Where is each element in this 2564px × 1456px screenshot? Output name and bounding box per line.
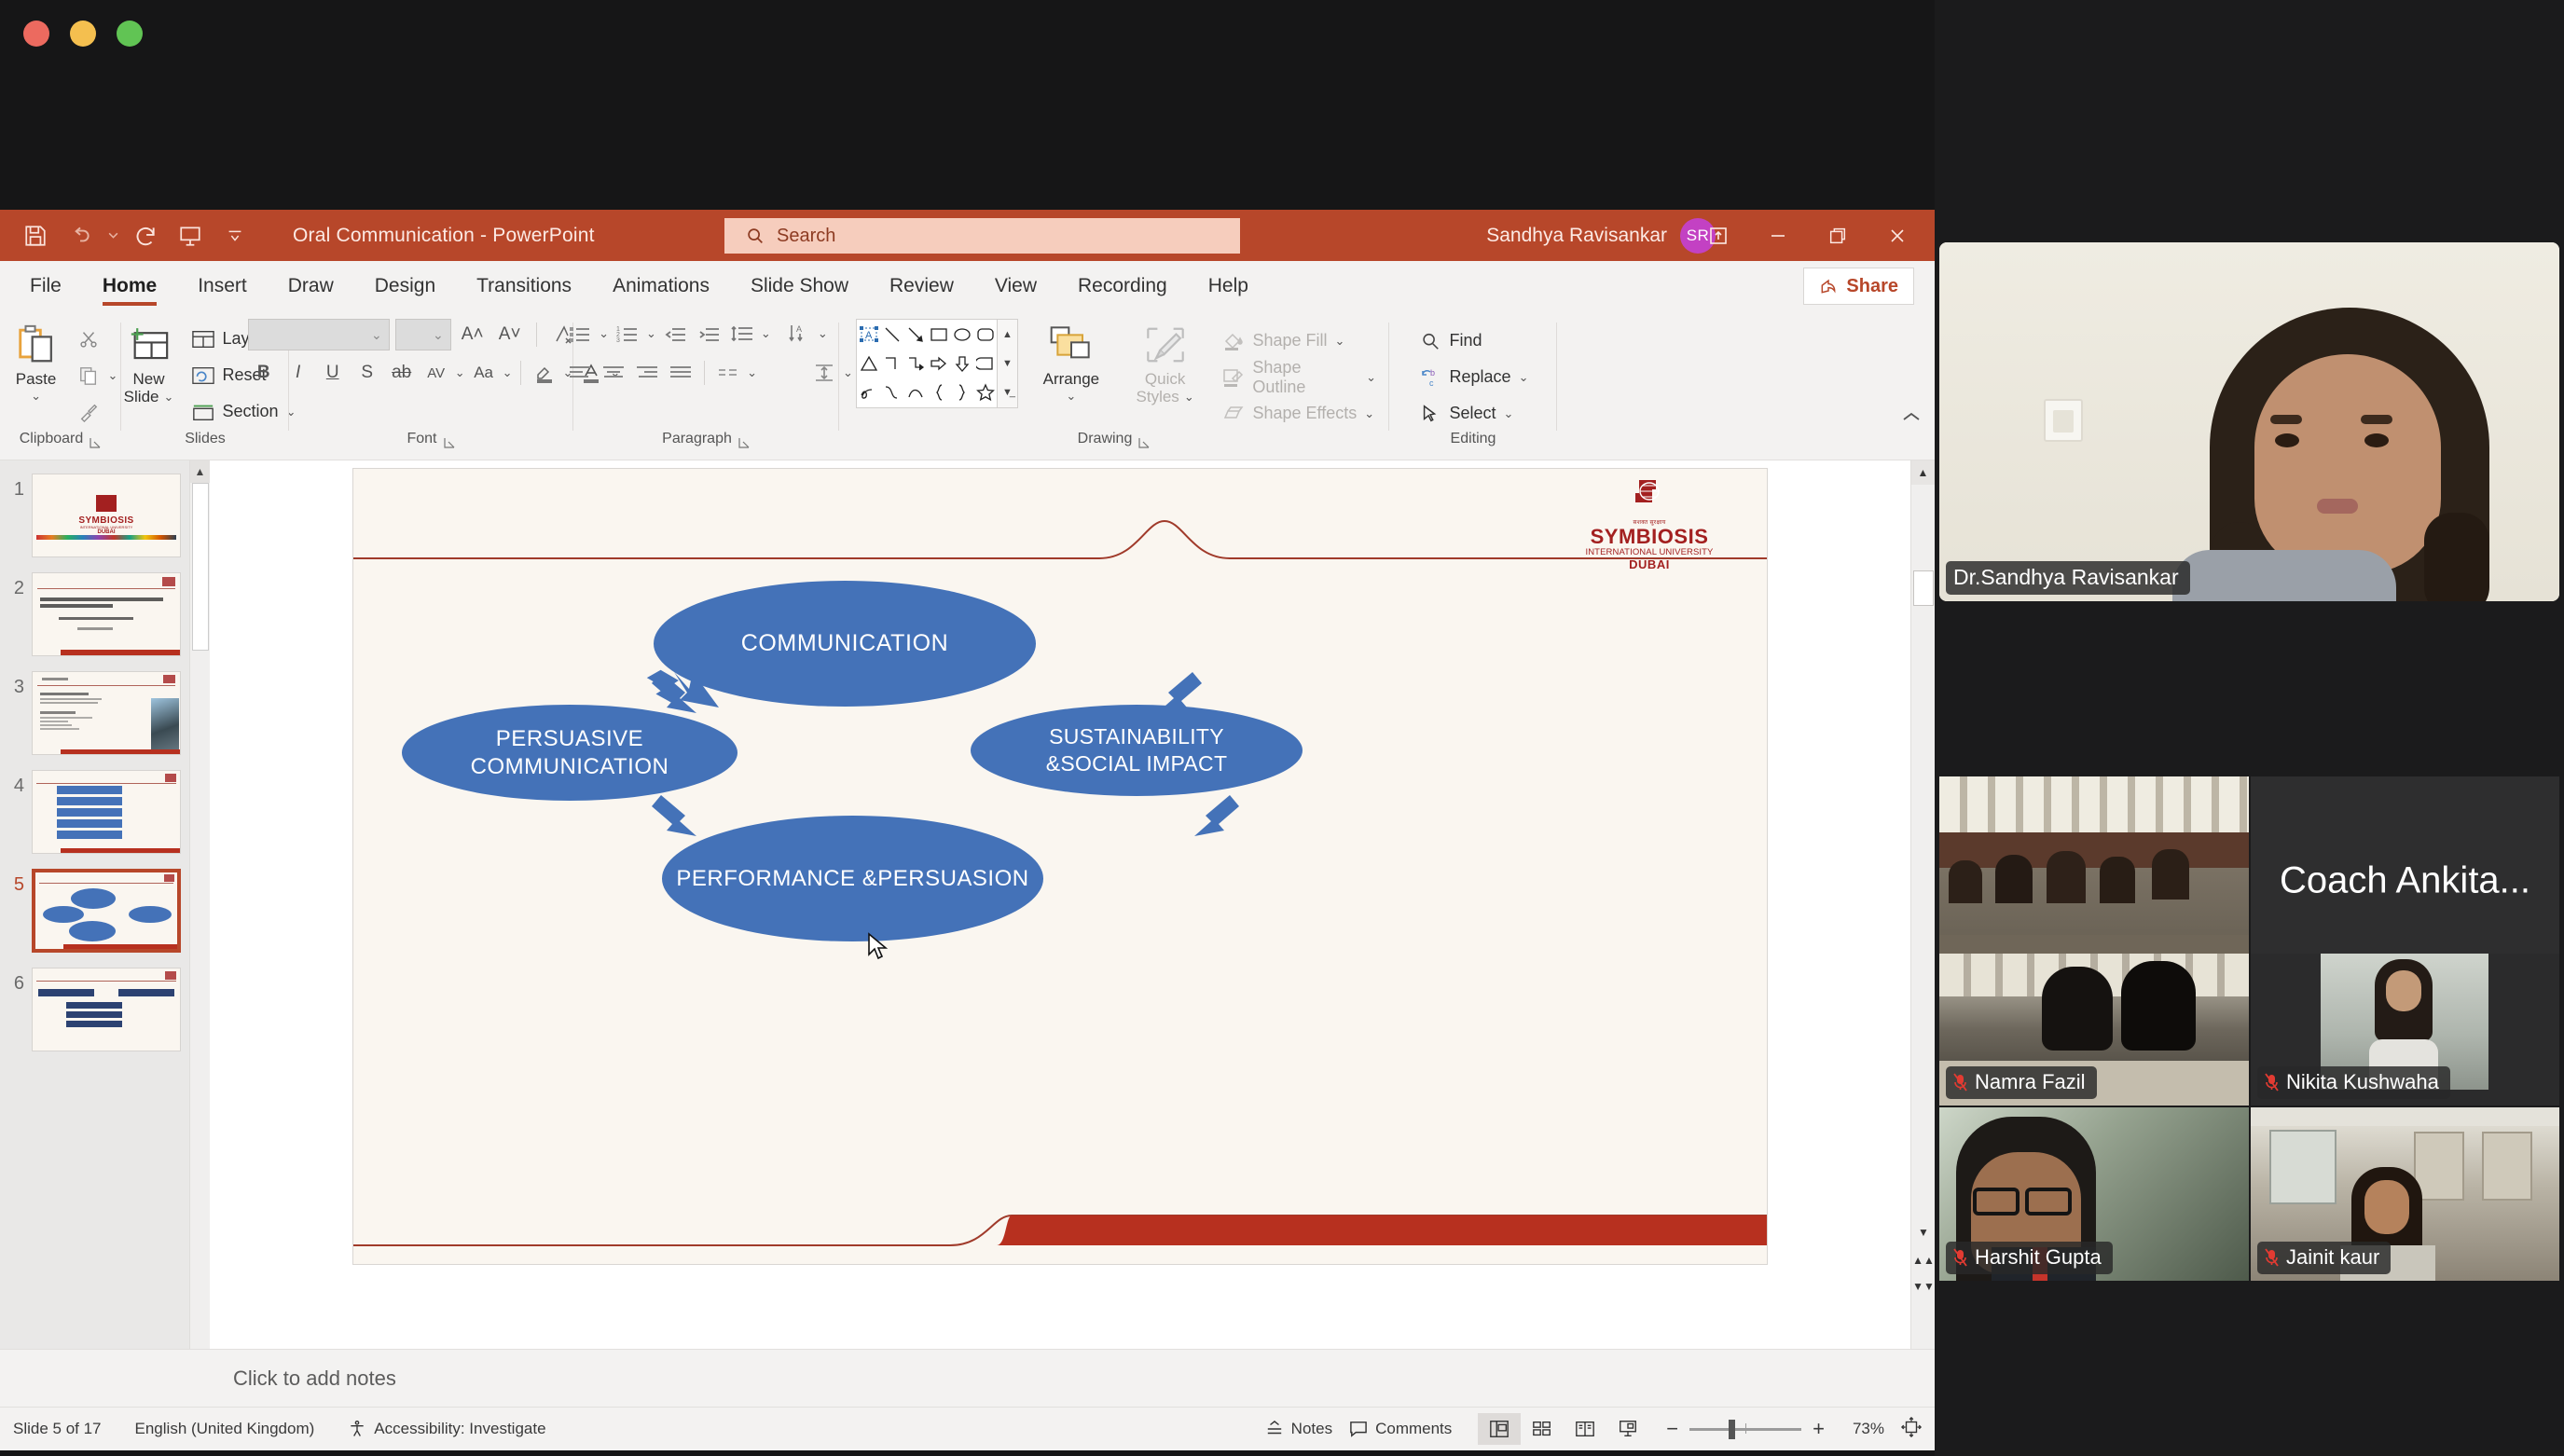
thumbnail-number: 6 (4, 968, 24, 995)
ribbon-group-drawing: A (839, 311, 1389, 460)
thumbnail-preview[interactable] (32, 770, 181, 854)
shape-right-arrow-icon[interactable] (927, 349, 950, 378)
ribbon-group-editing: Find b c Replace ⌄ (1389, 311, 1557, 460)
muted-mic-icon (2265, 1248, 2279, 1267)
chevron-down-icon[interactable]: ⌄ (1504, 406, 1514, 421)
editing-buttons: Find b c Replace ⌄ (1414, 319, 1533, 430)
status-bar: Slide 5 of 17 English (United Kingdom) A… (0, 1407, 1935, 1450)
shape-fill-icon (1221, 329, 1246, 353)
fit-slide-to-window-button[interactable] (1901, 1417, 1922, 1442)
numbering-button[interactable]: 1 23 (613, 319, 642, 349)
muted-mic-icon (1953, 1073, 1967, 1092)
tile-nikita[interactable]: Nikita Kushwaha (2251, 954, 2559, 1106)
group-label-drawing: Drawing (1078, 431, 1133, 455)
restore-icon[interactable] (1808, 210, 1868, 261)
bold-button[interactable]: B (248, 357, 280, 389)
text-highlight-color-button[interactable] (529, 357, 560, 389)
screen: Oral Communication - PowerPoint Search S… (0, 0, 2564, 1456)
quick-styles-icon (1144, 319, 1187, 371)
comments-label: Comments (1375, 1420, 1452, 1438)
group-label-clipboard: Clipboard (20, 431, 83, 455)
zoom-control[interactable]: − + 73% (1666, 1417, 1884, 1441)
chevron-down-icon[interactable]: ⌄ (599, 326, 609, 341)
ribbon-group-paragraph: ⌄ 1 23 ⌄ (573, 311, 839, 460)
zoom-slider[interactable] (1689, 1428, 1801, 1431)
tab-review[interactable]: Review (869, 261, 974, 311)
minimize-window-button[interactable] (70, 21, 96, 47)
scroll-up-icon[interactable]: ▲ (190, 460, 210, 483)
shape-flowchart-icon[interactable] (973, 349, 997, 378)
thumbnail-number: 2 (4, 572, 24, 599)
share-label: Share (1846, 276, 1898, 297)
gallery-scroll-down-icon[interactable]: ▼ (998, 349, 1017, 378)
shape-rounded-rect-icon[interactable] (973, 320, 997, 349)
tab-help[interactable]: Help (1188, 261, 1269, 311)
scrollbar-thumb[interactable] (1913, 570, 1934, 606)
ribbon-group-font: ⌄ ⌄ A˄ A˅ B I U S (289, 311, 573, 460)
mouse-cursor (867, 932, 891, 962)
increase-indent-button[interactable] (694, 319, 724, 349)
undo-dropdown-icon[interactable] (103, 215, 123, 256)
thumbnail-number: 4 (4, 770, 24, 797)
search-placeholder: Search (777, 226, 835, 247)
align-center-button[interactable] (599, 358, 628, 388)
shape-outline-button[interactable]: Shape Outline ⌄ (1218, 361, 1381, 393)
group-label-slides: Slides (185, 431, 226, 455)
collapse-ribbon-button[interactable] (1901, 410, 1935, 460)
paste-icon (15, 319, 58, 371)
cursor-icon (1418, 402, 1442, 426)
paragraph-row-bottom: ⌄ ⌄ (565, 349, 853, 388)
shape-scribble-icon[interactable] (857, 378, 880, 407)
video-conference-panel: Dr.Sandhya Ravisankar II (1935, 0, 2564, 1456)
shape-outline-label: Shape Outline (1252, 358, 1358, 397)
notes-icon (1265, 1421, 1284, 1437)
document-title: Oral Communication - PowerPoint (293, 225, 595, 247)
thumbnail-number: 5 (4, 869, 24, 896)
tile-namra[interactable]: Namra Fazil (1939, 954, 2249, 1106)
participant-name-tag: Dr.Sandhya Ravisankar (1946, 561, 2190, 595)
slide-editing-stage[interactable]: सशक्त सुरक्षाय SYMBIOSIS INTERNATIONAL U… (210, 460, 1910, 1349)
chevron-down-icon[interactable]: ⌄ (747, 365, 757, 380)
shape-arc-icon[interactable] (903, 378, 927, 407)
chevron-down-icon[interactable]: ⌄ (503, 365, 513, 380)
notes-pane[interactable]: Click to add notes (0, 1349, 1935, 1407)
tab-view[interactable]: View (974, 261, 1057, 311)
slide-show-view-button[interactable] (1606, 1413, 1649, 1445)
zoom-out-button[interactable]: − (1666, 1417, 1678, 1441)
svg-text:c: c (1429, 378, 1434, 388)
tab-animations[interactable]: Animations (592, 261, 730, 311)
macos-window-chrome (0, 0, 1935, 210)
find-button[interactable]: Find (1414, 324, 1533, 357)
slide-header-divider (353, 469, 1768, 581)
shape-right-brace-icon[interactable] (950, 378, 973, 407)
chevron-down-icon[interactable]: ⌄ (1366, 370, 1376, 385)
chevron-down-icon[interactable]: ⌄ (1519, 370, 1529, 385)
shape-fill-button[interactable]: Shape Fill ⌄ (1218, 324, 1381, 357)
align-text-button[interactable] (809, 358, 839, 388)
shape-down-arrow-icon[interactable] (950, 349, 973, 378)
symbiosis-emblem-icon (1628, 476, 1671, 514)
ellipse-sustainability-social-impact-label: SUSTAINABILITY &SOCIAL IMPACT (1004, 723, 1269, 777)
thumbnail-slide-5[interactable]: 5 (0, 861, 210, 960)
thumbnail-slide-3[interactable]: 3 (0, 664, 210, 762)
ellipse-persuasive-communication[interactable]: PERSUASIVE COMMUNICATION (402, 705, 737, 801)
thumbnail-slide-1[interactable]: 1 SYMBIOSIS INTERNATIONAL UNIVERSITY DUB… (0, 466, 210, 565)
text-direction-button[interactable]: A (784, 319, 814, 349)
logo-line3: DUBAI (1575, 557, 1724, 571)
normal-view-button[interactable] (1478, 1413, 1521, 1445)
arrange-label: Arrange (1043, 371, 1099, 389)
slide-logo: सशक्त सुरक्षाय SYMBIOSIS INTERNATIONAL U… (1575, 476, 1724, 571)
zoom-window-button[interactable] (117, 21, 143, 47)
shape-outline-icon (1221, 365, 1246, 390)
accessibility-icon (348, 1420, 366, 1438)
shape-elbow-connector-icon[interactable] (880, 349, 903, 378)
muted-mic-icon (1953, 1248, 1967, 1267)
previous-slide-icon[interactable]: ▲▲ (1911, 1254, 1936, 1267)
account-area[interactable]: Sandhya Ravisankar SR (1486, 210, 1716, 261)
drawing-dialog-launcher-icon[interactable] (1137, 436, 1151, 449)
next-slide-icon[interactable]: ▼▼ (1911, 1280, 1936, 1293)
zoom-percentage[interactable]: 73% (1836, 1420, 1884, 1438)
window-buttons[interactable] (1689, 210, 1927, 261)
thumbnail-preview[interactable] (32, 671, 181, 755)
comments-button[interactable]: Comments (1349, 1420, 1452, 1438)
copy-icon (76, 364, 101, 388)
tile-jainit[interactable]: Jainit kaur (2251, 1107, 2559, 1281)
shape-triangle-icon[interactable] (857, 349, 880, 378)
ellipse-performance-persuasion[interactable]: PERFORMANCE &PERSUASION (662, 816, 1043, 941)
thumbnail-number: 1 (4, 474, 24, 501)
tile-speaker[interactable]: Dr.Sandhya Ravisankar (1939, 242, 2559, 601)
underline-button[interactable]: U (317, 357, 349, 389)
paragraph-dialog-launcher-icon[interactable] (737, 436, 751, 449)
ribbon-display-options-icon[interactable] (1689, 210, 1748, 261)
participant-name: Namra Fazil (1975, 1070, 2086, 1094)
format-painter-icon (76, 400, 101, 424)
ribbon-group-clipboard: Paste ⌄ (0, 311, 121, 460)
italic-button[interactable]: I (283, 357, 314, 389)
start-presentation-icon[interactable] (168, 215, 213, 256)
increase-font-size-icon[interactable]: A˄ (457, 319, 489, 350)
thumbnail-slide-6[interactable]: 6 (0, 960, 210, 1059)
slide-vertical-scrollbar[interactable]: ▲ ▼ ▲▲ ▼▼ (1910, 460, 1935, 1349)
font-row-top: ⌄ ⌄ A˄ A˅ (248, 319, 579, 350)
slide-thumbnail-panel[interactable]: 1 SYMBIOSIS INTERNATIONAL UNIVERSITY DUB… (0, 460, 210, 1349)
reset-icon (191, 364, 215, 388)
shape-star-icon[interactable] (973, 378, 997, 407)
thumbnail-preview-selected[interactable] (32, 869, 181, 953)
minimize-icon[interactable] (1748, 210, 1808, 261)
group-label-font: Font (407, 431, 436, 455)
font-dialog-launcher-icon[interactable] (443, 436, 456, 449)
current-slide[interactable]: सशक्त सुरक्षाय SYMBIOSIS INTERNATIONAL U… (352, 468, 1768, 1265)
thumbnail-preview[interactable]: SYMBIOSIS INTERNATIONAL UNIVERSITY DUBAI (32, 474, 181, 557)
tab-file[interactable]: File (9, 261, 82, 311)
participant-name-tag: Jainit kaur (2257, 1242, 2391, 1274)
paste-label: Paste (16, 371, 56, 389)
reading-view-button[interactable] (1564, 1413, 1606, 1445)
tab-design[interactable]: Design (354, 261, 456, 311)
chevron-down-icon[interactable]: ⌄ (455, 365, 465, 380)
change-case-button[interactable]: Aa (468, 357, 500, 389)
tab-recording[interactable]: Recording (1057, 261, 1188, 311)
chevron-down-icon[interactable]: ⌄ (1364, 406, 1374, 421)
participant-name: Nikita Kushwaha (2286, 1070, 2439, 1094)
accessibility-label: Accessibility: Investigate (374, 1420, 545, 1438)
align-left-button[interactable] (565, 358, 595, 388)
tile-harshit[interactable]: Harshit Gupta (1939, 1107, 2249, 1281)
search-icon (1418, 329, 1442, 353)
clipboard-dialog-launcher-icon[interactable] (89, 436, 102, 449)
quick-access-toolbar[interactable] (0, 215, 257, 256)
logo-line2: INTERNATIONAL UNIVERSITY (1575, 547, 1724, 557)
ellipse-persuasive-communication-label: PERSUASIVE COMMUNICATION (454, 725, 685, 781)
group-label-paragraph: Paragraph (662, 431, 732, 455)
slide-counter[interactable]: Slide 5 of 17 (13, 1420, 102, 1438)
shape-effects-icon (1221, 402, 1246, 426)
select-label: Select (1450, 404, 1496, 423)
tab-transitions[interactable]: Transitions (456, 261, 592, 311)
decrease-indent-button[interactable] (660, 319, 690, 349)
new-slide-label-2: Slide (124, 389, 159, 406)
thumbnail-slide-4[interactable]: 4 (0, 762, 210, 861)
participant-name-tag: Harshit Gupta (1946, 1242, 2113, 1274)
character-spacing-button[interactable]: AV (420, 357, 452, 389)
strikethrough-button[interactable]: ab (386, 357, 418, 389)
undo-icon[interactable] (58, 215, 103, 256)
paragraph-row-top: ⌄ 1 23 ⌄ (565, 319, 828, 349)
shape-effects-label: Shape Effects (1253, 404, 1358, 423)
gallery-expand-icon[interactable]: ▼̲ (998, 378, 1017, 407)
shape-line-icon[interactable] (880, 320, 903, 349)
font-name-select[interactable]: ⌄ (248, 319, 390, 350)
accessibility-status[interactable]: Accessibility: Investigate (348, 1420, 545, 1438)
shape-gallery[interactable]: A (856, 319, 1018, 408)
search-icon (745, 226, 765, 246)
tab-draw[interactable]: Draw (268, 261, 354, 311)
text-shadow-button[interactable]: S (352, 357, 383, 389)
chevron-down-icon[interactable]: ⌄ (31, 389, 41, 404)
replace-button[interactable]: b c Replace ⌄ (1414, 361, 1533, 393)
powerpoint-window: Oral Communication - PowerPoint Search S… (0, 210, 1935, 1349)
decrease-font-size-icon[interactable]: A˅ (494, 319, 526, 350)
customize-qat-icon[interactable] (213, 215, 257, 256)
share-icon (1819, 277, 1838, 295)
replace-label: Replace (1450, 367, 1511, 387)
section-icon (191, 400, 215, 424)
thumbnail-slide-2[interactable]: 2 (0, 565, 210, 664)
participant-name: Dr.Sandhya Ravisankar (1953, 565, 2179, 590)
chevron-down-icon[interactable]: ⌄ (761, 326, 771, 341)
zoom-slider-handle[interactable] (1729, 1420, 1735, 1439)
notes-button[interactable]: Notes (1265, 1420, 1332, 1438)
ellipse-communication[interactable]: COMMUNICATION (654, 581, 1036, 707)
share-button[interactable]: Share (1803, 268, 1914, 305)
shape-oval-icon[interactable] (950, 320, 973, 349)
muted-mic-icon (2265, 1073, 2279, 1092)
shape-format-buttons: Shape Fill ⌄ Shape Outline ⌄ (1218, 319, 1381, 430)
participant-name-tag: Nikita Kushwaha (2257, 1066, 2450, 1099)
logo-name: SYMBIOSIS (1575, 526, 1724, 547)
zoom-in-button[interactable]: + (1813, 1417, 1825, 1441)
scroll-down-icon[interactable]: ▼ (1911, 1226, 1936, 1239)
shape-textbox-icon[interactable]: A (857, 320, 880, 349)
shape-curve-icon[interactable] (880, 378, 903, 407)
line-spacing-button[interactable] (727, 319, 757, 349)
redo-icon[interactable] (123, 215, 168, 256)
ellipse-sustainability-social-impact[interactable]: SUSTAINABILITY &SOCIAL IMPACT (971, 705, 1303, 796)
save-icon[interactable] (13, 215, 58, 256)
quick-styles-button[interactable]: Quick Styles ⌄ (1124, 319, 1206, 405)
shape-fill-label: Shape Fill (1253, 331, 1328, 350)
chevron-down-icon[interactable]: ⌄ (1335, 334, 1345, 349)
thumbnail-preview[interactable] (32, 572, 181, 656)
scrollbar-thumb[interactable] (192, 483, 209, 651)
language-indicator[interactable]: English (United Kingdom) (135, 1420, 315, 1438)
arrange-button[interactable]: Arrange ⌄ (1029, 319, 1113, 404)
slide-footer-divider (353, 1199, 1768, 1264)
participant-name: Jainit kaur (2286, 1245, 2379, 1270)
chevron-down-icon[interactable]: ⌄ (1066, 389, 1076, 404)
ribbon: Paste ⌄ (0, 311, 1935, 460)
new-slide-icon (128, 319, 171, 371)
chevron-down-icon[interactable]: ⌄ (1184, 390, 1194, 405)
columns-button[interactable] (713, 358, 743, 388)
font-size-select[interactable]: ⌄ (395, 319, 451, 350)
select-button[interactable]: Select ⌄ (1414, 397, 1533, 430)
ellipse-performance-persuasion-label: PERFORMANCE &PERSUASION (676, 865, 1028, 893)
chevron-down-icon[interactable]: ⌄ (646, 326, 656, 341)
notes-label: Notes (1291, 1420, 1332, 1438)
paste-button[interactable]: Paste ⌄ (0, 319, 73, 404)
chevron-down-icon[interactable]: ⌄ (818, 326, 828, 341)
svg-text:3: 3 (616, 337, 620, 344)
thumbnail-preview[interactable] (32, 968, 181, 1051)
shape-rectangle-icon[interactable] (927, 320, 950, 349)
slide-sorter-view-button[interactable] (1521, 1413, 1564, 1445)
replace-icon: b c (1418, 365, 1442, 390)
close-window-button[interactable] (23, 21, 49, 47)
shape-elbow-arrow-icon[interactable] (903, 349, 927, 378)
shape-arrow-icon[interactable] (903, 320, 927, 349)
quick-styles-label-2: Styles (1137, 389, 1179, 406)
editor-body: 1 SYMBIOSIS INTERNATIONAL UNIVERSITY DUB… (0, 460, 1935, 1349)
arrange-icon (1049, 319, 1094, 371)
layout-icon (191, 327, 215, 351)
scissors-icon (76, 327, 101, 351)
close-icon[interactable] (1868, 210, 1927, 261)
quick-styles-label-1: Quick (1145, 371, 1185, 389)
align-right-button[interactable] (632, 358, 662, 388)
ribbon-tabs[interactable]: File Home Insert Draw Design Transitions… (0, 261, 1935, 311)
svg-text:A: A (865, 330, 873, 341)
justify-button[interactable] (666, 358, 696, 388)
tab-insert[interactable]: Insert (177, 261, 268, 311)
svg-text:A: A (796, 324, 802, 334)
search-input[interactable]: Search (724, 218, 1240, 254)
participant-name-tag: Namra Fazil (1946, 1066, 2097, 1099)
shape-gallery-scrollbar[interactable]: ▲ ▼ ▼̲ (998, 319, 1018, 408)
tab-slide-show[interactable]: Slide Show (730, 261, 869, 311)
gallery-scroll-up-icon[interactable]: ▲ (998, 320, 1017, 349)
participant-big-name: Coach Ankita... (2251, 860, 2559, 902)
tab-home[interactable]: Home (82, 261, 177, 311)
bullets-button[interactable] (565, 319, 595, 349)
thumbnail-number: 3 (4, 671, 24, 698)
new-slide-label-1: New (133, 371, 165, 389)
shape-gallery-grid[interactable]: A (856, 319, 998, 408)
shape-left-brace-icon[interactable] (927, 378, 950, 407)
title-bar: Oral Communication - PowerPoint Search S… (0, 210, 1935, 261)
ellipse-communication-label: COMMUNICATION (741, 629, 949, 658)
svg-text:b: b (1430, 368, 1435, 378)
new-slide-button[interactable]: New Slide ⌄ (111, 319, 187, 405)
find-label: Find (1450, 331, 1482, 350)
group-label-editing: Editing (1451, 431, 1496, 455)
window-traffic-lights[interactable] (23, 21, 143, 47)
scroll-up-icon[interactable]: ▲ (1911, 460, 1935, 485)
comment-icon (1349, 1421, 1368, 1437)
notes-placeholder: Click to add notes (233, 1367, 396, 1391)
diagram-arrows (353, 469, 1768, 1265)
thumbnail-scrollbar[interactable]: ▲ (189, 460, 210, 1349)
shape-effects-button[interactable]: Shape Effects ⌄ (1218, 397, 1381, 430)
participant-name: Harshit Gupta (1975, 1245, 2102, 1270)
chevron-down-icon[interactable]: ⌄ (163, 390, 173, 405)
account-name: Sandhya Ravisankar (1486, 225, 1667, 247)
